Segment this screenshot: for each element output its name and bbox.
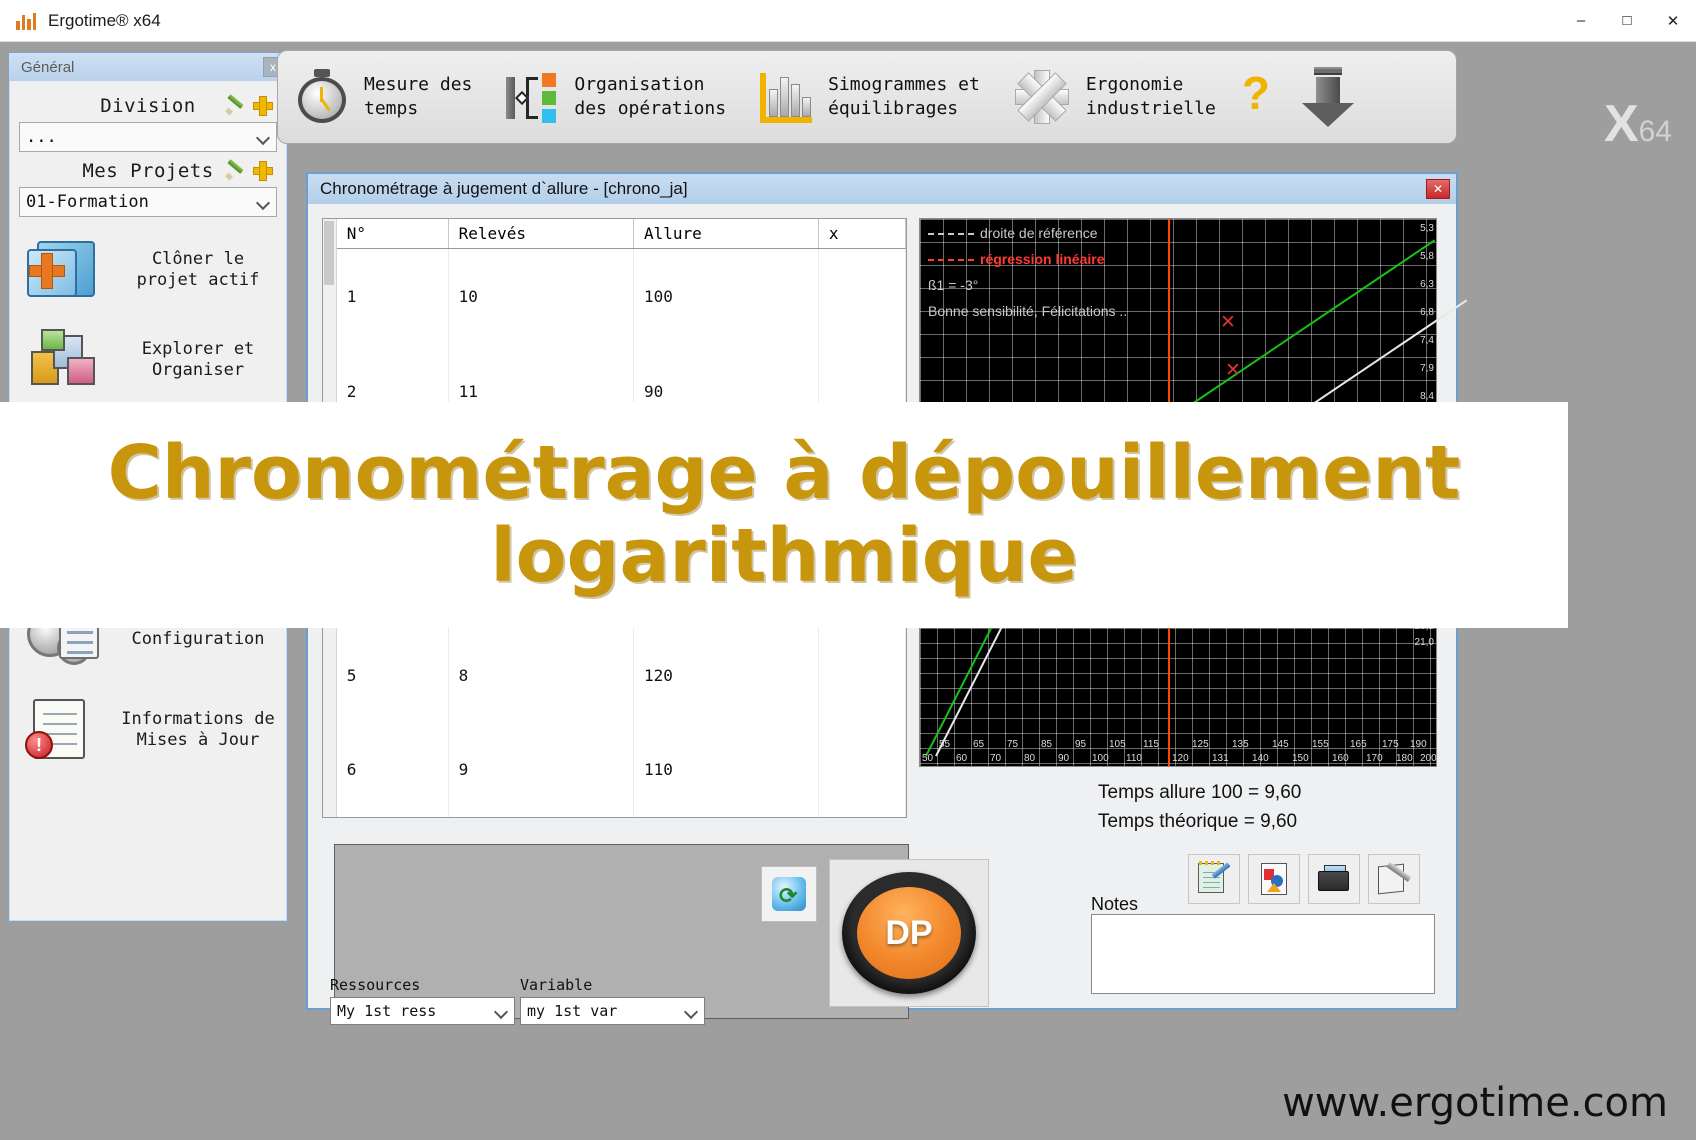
chart-ytick: 6,8: [1420, 307, 1434, 318]
dp-button-label: DP: [857, 887, 961, 979]
notes-label: Notes: [1091, 894, 1138, 915]
chart-xtick: 75: [1007, 739, 1018, 750]
chart-ytick: 5,8: [1420, 251, 1434, 262]
stats-temps-allure: Temps allure 100 = 9,60: [1098, 779, 1438, 808]
erase-icon: [1376, 861, 1412, 897]
pencil-icon[interactable]: [225, 161, 245, 181]
chart-legend-regression: régression linéaire: [928, 251, 1105, 267]
cell-releves: 9: [448, 722, 633, 817]
division-select[interactable]: ...: [19, 122, 277, 152]
chart-xtick: 110: [1126, 753, 1142, 764]
sidebar-title: Général: [13, 59, 263, 76]
projects-value: 01-Formation: [26, 192, 256, 212]
title-overlay-banner: Chronométrage à dépouillement logarithmi…: [0, 402, 1568, 628]
toolbar-item-organisation-des-operations-label: Organisation des opérations: [574, 73, 726, 122]
dp-button[interactable]: DP: [842, 872, 976, 994]
toolbar-item-mesure-des-temps[interactable]: Mesure des temps: [278, 69, 488, 125]
refresh-button[interactable]: ⟳: [761, 866, 817, 922]
chart-annotation-beta: ß1 = -3°: [928, 277, 978, 293]
chart-xtick: 55: [939, 739, 950, 750]
chart-stats: Temps allure 100 = 9,60 Temps théorique …: [1098, 779, 1438, 836]
app-title: Ergotime® x64: [48, 11, 161, 31]
dp-button-frame: DP: [829, 859, 989, 1007]
edit-note-button[interactable]: [1188, 854, 1240, 904]
ressources-value: My 1st ress: [337, 1002, 494, 1020]
ressources-field: Ressources My 1st ress: [330, 976, 515, 1025]
notes-toolbar: [1188, 854, 1420, 904]
chart-xtick: 150: [1292, 753, 1309, 764]
ressources-select[interactable]: My 1st ress: [330, 997, 515, 1025]
child-window-close-button[interactable]: ✕: [1426, 179, 1450, 199]
cell-x: [818, 722, 905, 817]
maximize-button[interactable]: □: [1604, 0, 1650, 41]
x64-brand-bits: 64: [1639, 115, 1672, 149]
chart-xtick: 60: [956, 753, 967, 764]
chart-xtick: 145: [1272, 739, 1289, 750]
child-window-titlebar: Chronométrage à jugement d`allure - [chr…: [308, 174, 1456, 204]
column-header-no[interactable]: N°: [337, 219, 448, 249]
chart-xtick: 155: [1312, 739, 1329, 750]
cell-no: 1: [337, 249, 448, 345]
toolbar-item-ergonomie-industrielle-label: Ergonomie industrielle: [1086, 73, 1216, 122]
erase-button[interactable]: [1368, 854, 1420, 904]
chart-xtick: 100: [1092, 753, 1109, 764]
chart-xtick: 165: [1350, 739, 1367, 750]
sidebar-item-explore-organize[interactable]: Explorer et Organiser: [19, 323, 277, 397]
table-row[interactable]: 5 8 120: [337, 628, 906, 722]
overlay-title-line1: Chronométrage à dépouillement: [108, 430, 1461, 516]
chart-marker: ✕: [1220, 311, 1236, 334]
chart-xtick: 170: [1366, 753, 1383, 764]
chart-xtick: 160: [1332, 753, 1349, 764]
stats-temps-theorique: Temps théorique = 9,60: [1098, 808, 1438, 837]
star-add-icon[interactable]: [253, 161, 273, 181]
refresh-globe-icon: ⟳: [770, 875, 808, 913]
chevron-down-icon: [256, 195, 270, 209]
update-info-icon: !: [23, 693, 109, 767]
chart-xtick: 50: [922, 753, 933, 764]
projects-label-row: Mes Projets: [19, 160, 277, 182]
table-header-row: N° Relevés Allure x: [337, 219, 906, 249]
division-label: Division: [100, 95, 196, 117]
chart-marker: ✕: [1225, 359, 1241, 382]
chart-xtick: 105: [1109, 739, 1126, 750]
open-image-icon: [1316, 861, 1352, 897]
chevron-down-icon: [494, 1004, 508, 1018]
x64-brand-x: X: [1604, 94, 1639, 154]
toolbar-item-ergonomie-industrielle[interactable]: Ergonomie industrielle: [996, 67, 1232, 127]
table-row[interactable]: 1 10 100: [337, 249, 906, 345]
chart-xtick: 190: [1410, 739, 1427, 750]
toolbar-item-organisation-des-operations[interactable]: Organisation des opérations: [488, 69, 742, 125]
overlay-title: Chronométrage à dépouillement logarithmi…: [108, 432, 1461, 598]
cell-no: 5: [337, 628, 448, 722]
clone-project-label: Clôner le projet actif: [119, 249, 277, 292]
cell-releves: 10: [448, 249, 633, 345]
notes-input[interactable]: [1091, 914, 1435, 994]
variable-field: Variable my 1st var: [520, 976, 705, 1025]
chart-ytick: 8,4: [1420, 391, 1434, 402]
chart-xtick: 90: [1058, 753, 1069, 764]
chart-ytick: 21,0: [1415, 637, 1434, 648]
column-header-x[interactable]: x: [818, 219, 905, 249]
projects-select[interactable]: 01-Formation: [19, 187, 277, 217]
chart-ytick: 7,4: [1420, 335, 1434, 346]
chart-ytick: 7,9: [1420, 363, 1434, 374]
explore-organize-label: Explorer et Organiser: [119, 339, 277, 382]
chart-xtick: 70: [990, 753, 1001, 764]
chart-xtick: 180: [1396, 753, 1413, 764]
chart-ytick: 5,3: [1420, 223, 1434, 234]
chevron-down-icon: [684, 1004, 698, 1018]
minimize-button[interactable]: –: [1558, 0, 1604, 41]
edit-note-icon: [1196, 861, 1232, 897]
sidebar-item-update-info[interactable]: ! Informations de Mises à Jour: [19, 693, 277, 767]
chart-xtick: 120: [1172, 753, 1189, 764]
chart-xtick: 80: [1024, 753, 1035, 764]
cell-allure: 120: [633, 628, 818, 722]
ressources-label: Ressources: [330, 976, 515, 994]
chart-xtick: 65: [973, 739, 984, 750]
child-window-title: Chronométrage à jugement d`allure - [chr…: [314, 179, 1426, 199]
document-image-button[interactable]: [1248, 854, 1300, 904]
open-image-button[interactable]: [1308, 854, 1360, 904]
close-button[interactable]: ✕: [1650, 0, 1696, 41]
chart-xtick: 125: [1192, 739, 1209, 750]
ergonomics-star-icon: [1012, 67, 1072, 127]
column-header-releves[interactable]: Relevés: [448, 219, 633, 249]
website-url: www.ergotime.com: [1282, 1080, 1668, 1126]
main-toolbar: Mesure des temps Organisation des opérat…: [277, 50, 1457, 144]
chart-xtick: 131: [1212, 753, 1229, 764]
cell-no: 6: [337, 722, 448, 817]
chart-legend-reference: droite de référence: [928, 225, 1098, 241]
toolbar-item-simogrammes-label: Simogrammes et équilibrages: [828, 73, 980, 122]
cell-allure: 100: [633, 249, 818, 345]
explore-organize-icon: [23, 323, 109, 397]
chart-ytick: 6,3: [1420, 279, 1434, 290]
organization-tree-icon: [504, 69, 560, 125]
projects-label: Mes Projets: [82, 160, 213, 182]
x64-brand-logo: X 64: [1604, 94, 1672, 154]
document-image-icon: [1256, 861, 1292, 897]
chart-xtick: 135: [1232, 739, 1249, 750]
chart-annotation-feedback: Bonne sensibilité, Félicitations ..: [928, 303, 1127, 319]
bar-chart-logo-icon: [16, 12, 36, 30]
toolbar-item-mesure-des-temps-label: Mesure des temps: [364, 73, 472, 122]
sidebar-item-clone-project[interactable]: Clôner le projet actif: [19, 233, 277, 307]
update-info-label: Informations de Mises à Jour: [119, 709, 277, 752]
pencil-icon[interactable]: [225, 96, 245, 116]
stopwatch-icon: [294, 69, 350, 125]
chart-xtick: 200: [1420, 753, 1437, 764]
division-value: ...: [26, 127, 256, 147]
cell-releves: 8: [448, 628, 633, 722]
help-button[interactable]: ?: [1242, 66, 1270, 120]
download-arrow-icon[interactable]: [1300, 65, 1356, 129]
cell-x: [818, 249, 905, 345]
column-header-allure[interactable]: Allure: [633, 219, 818, 249]
variable-select[interactable]: my 1st var: [520, 997, 705, 1025]
chart-xtick: 85: [1041, 739, 1052, 750]
sidebar-header: Général x: [9, 53, 287, 81]
chevron-down-icon: [256, 130, 270, 144]
variable-value: my 1st var: [527, 1002, 684, 1020]
division-label-row: Division: [19, 95, 277, 117]
variable-label: Variable: [520, 976, 705, 994]
window-controls: – □ ✕: [1558, 0, 1696, 41]
configuration-label: Configuration: [119, 629, 277, 650]
chart-xtick: 175: [1382, 739, 1399, 750]
table-row[interactable]: 6 9 110: [337, 722, 906, 817]
clone-project-icon: [23, 233, 109, 307]
window-titlebar: Ergotime® x64 – □ ✕: [0, 0, 1696, 42]
chart-xtick: 95: [1075, 739, 1086, 750]
chart-legend-regression-label: régression linéaire: [980, 251, 1105, 267]
bar-chart-icon: [758, 69, 814, 125]
cell-allure: 110: [633, 722, 818, 817]
chart-xtick: 115: [1143, 739, 1159, 750]
star-add-icon[interactable]: [253, 96, 273, 116]
chart-legend-reference-label: droite de référence: [980, 225, 1098, 241]
overlay-title-line2: logarithmique: [490, 513, 1077, 599]
chart-xtick: 140: [1252, 753, 1269, 764]
toolbar-item-simogrammes[interactable]: Simogrammes et équilibrages: [742, 69, 996, 125]
cell-x: [818, 628, 905, 722]
